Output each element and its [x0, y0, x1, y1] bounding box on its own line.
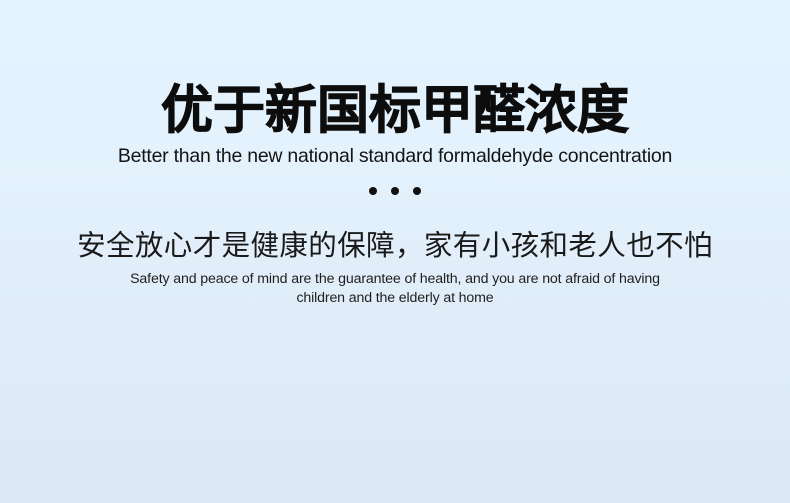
- subheading-english-line-2: children and the elderly at home: [95, 289, 695, 308]
- subheading-english-line-1: Safety and peace of mind are the guarant…: [95, 270, 695, 289]
- headline-block: 优于新国标甲醛浓度 Better than the new national s…: [0, 82, 790, 168]
- headline-chinese: 优于新国标甲醛浓度: [161, 82, 629, 140]
- subheading-chinese: 安全放心才是健康的保障，家有小孩和老人也不怕: [77, 229, 713, 263]
- divider-dot-icon: [369, 187, 377, 195]
- subheading-english: Safety and peace of mind are the guarant…: [95, 270, 695, 307]
- divider-dot-icon: [391, 187, 399, 195]
- divider-dot-icon: [413, 187, 421, 195]
- subheading-block: 安全放心才是健康的保障，家有小孩和老人也不怕 Safety and peace …: [0, 229, 790, 307]
- headline-english: Better than the new national standard fo…: [118, 144, 672, 168]
- promo-banner: 优于新国标甲醛浓度 Better than the new national s…: [0, 0, 790, 503]
- empty-space: [0, 307, 790, 503]
- dot-divider: [369, 186, 421, 196]
